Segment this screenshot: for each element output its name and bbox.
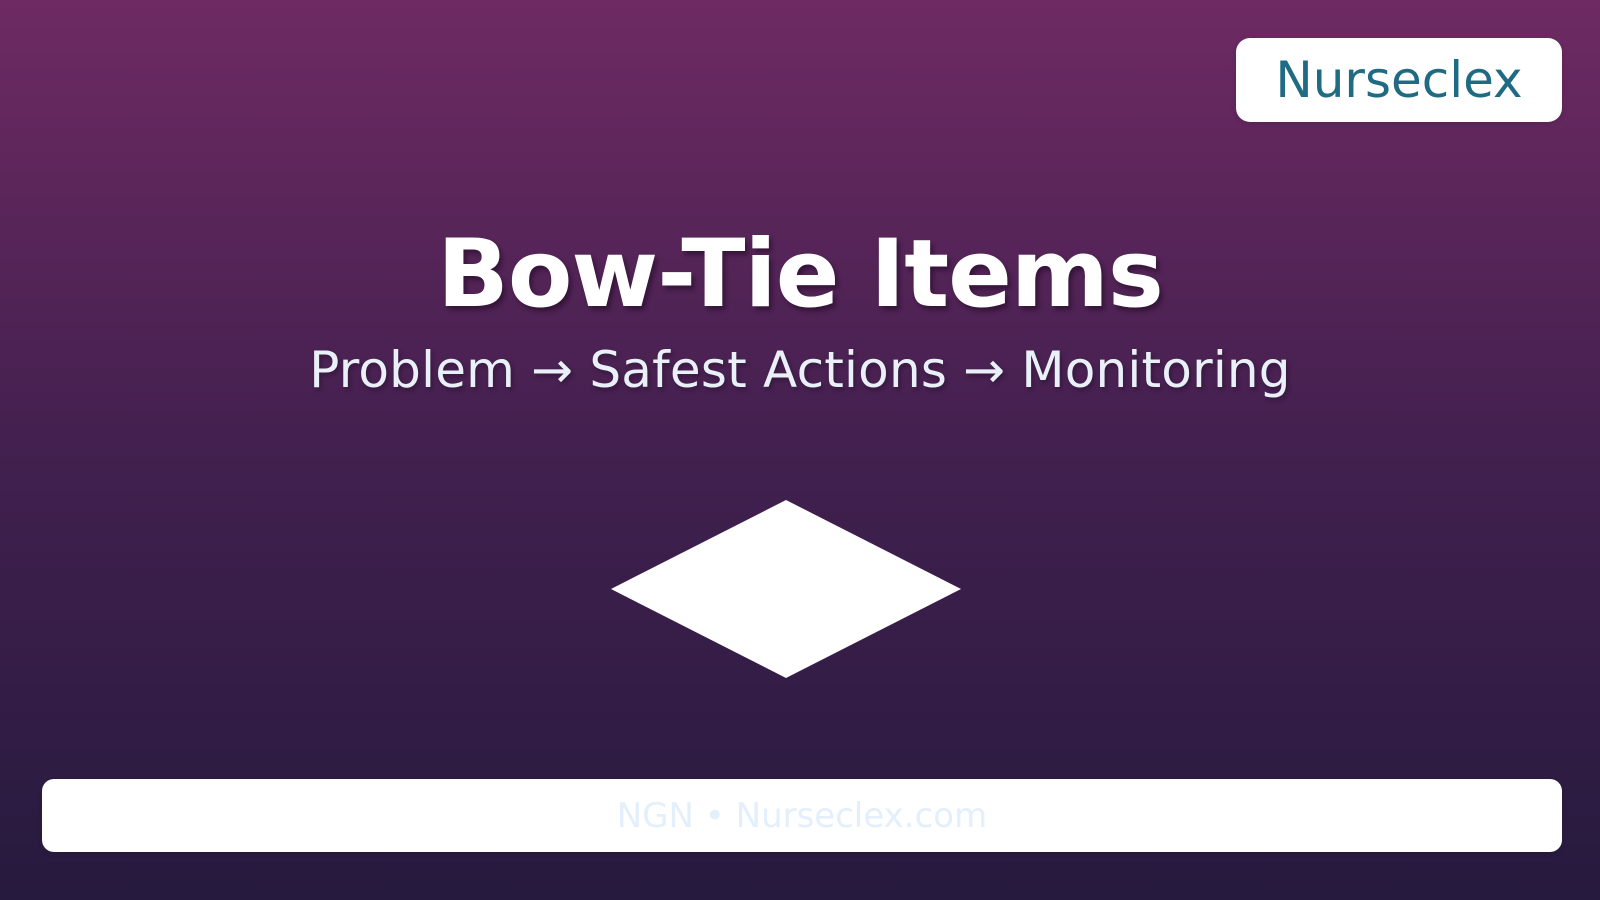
diamond-graphic — [611, 500, 961, 678]
footer-bar: NGN • Nurseclex.com — [42, 779, 1562, 852]
footer-attribution-label: NGN • Nurseclex.com — [617, 799, 987, 833]
slide-title: Bow-Tie Items — [0, 228, 1600, 322]
slide-subtitle: Problem → Safest Actions → Monitoring — [0, 344, 1600, 397]
headline-block: Bow-Tie Items Problem → Safest Actions →… — [0, 228, 1600, 397]
diamond-icon — [611, 500, 961, 678]
slide-canvas: Nurseclex Bow-Tie Items Problem → Safest… — [0, 0, 1600, 900]
brand-badge[interactable]: Nurseclex — [1236, 38, 1562, 122]
brand-name-label: Nurseclex — [1275, 55, 1522, 105]
